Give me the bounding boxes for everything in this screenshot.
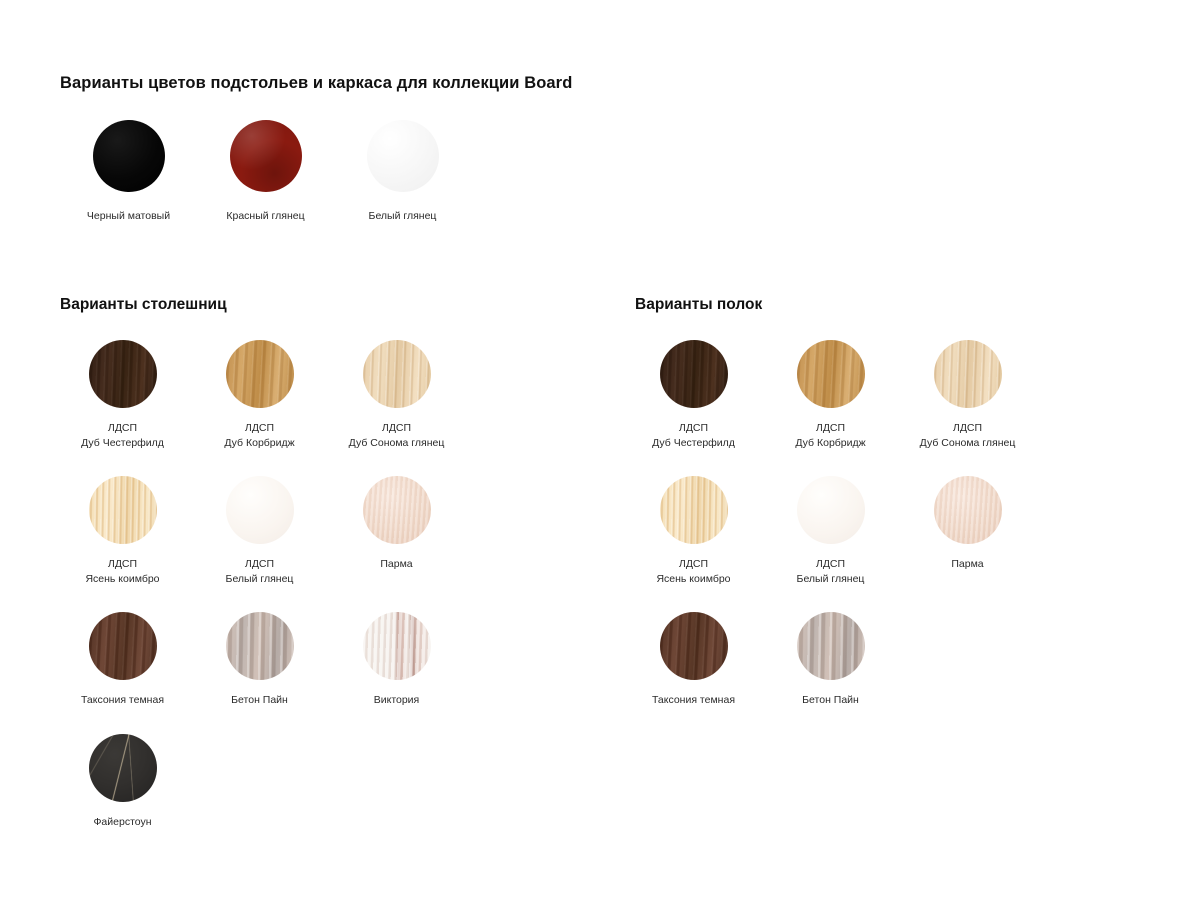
swatch-row: Черный матовыйКрасный глянецБелый глянец [60,120,580,224]
swatch-color-disc[interactable] [89,340,157,408]
swatch-color-disc[interactable] [797,476,865,544]
swatch-label: ЛДСПДуб Честерфилд [81,421,164,450]
swatch-label: Парма [380,557,412,572]
shelf-swatch-grid: ЛДСПДуб ЧестерфилдЛДСПДуб КорбриджЛДСПДу… [625,340,1185,734]
swatch-color-disc[interactable] [226,476,294,544]
swatch-label-line1: ЛДСП [679,422,708,434]
swatch-label: Бетон Пайн [802,693,859,708]
swatch-label: ЛДСПДуб Честерфилд [652,421,735,450]
swatch-color-disc[interactable] [226,612,294,680]
swatch-color-disc[interactable] [89,476,157,544]
swatch-label-line1: Парма [951,558,983,570]
swatch-cell[interactable]: Парма [899,476,1036,572]
swatch-label: ЛДСПБелый глянец [797,557,865,586]
color-options-page: Варианты цветов подстольев и каркаса для… [0,0,1200,900]
section-title-tabletops: Варианты столешниц [60,296,227,314]
swatch-row: ЛДСПДуб ЧестерфилдЛДСПДуб КорбриджЛДСПДу… [54,340,614,450]
swatch-label-line2: Белый глянец [797,572,865,587]
swatch-cell[interactable]: Виктория [328,612,465,708]
swatch-label-line2: Дуб Честерфилд [81,436,164,451]
swatch-label-line1: Красный глянец [226,210,304,222]
swatch-label-line1: Таксония темная [81,694,164,706]
swatch-cell[interactable]: ЛДСПБелый глянец [762,476,899,586]
swatch-cell[interactable]: Парма [328,476,465,572]
swatch-color-disc[interactable] [93,120,165,192]
swatch-label-line1: Черный матовый [87,210,170,222]
swatch-label-line1: Бетон Пайн [802,694,859,706]
swatch-label: Бетон Пайн [231,693,288,708]
swatch-label-line1: ЛДСП [816,558,845,570]
swatch-color-disc[interactable] [363,340,431,408]
swatch-color-disc[interactable] [89,612,157,680]
swatch-label-line2: Ясень коимбро [656,572,730,587]
swatch-label-line1: ЛДСП [108,558,137,570]
swatch-cell[interactable]: Бетон Пайн [191,612,328,708]
swatch-color-disc[interactable] [660,612,728,680]
swatch-cell[interactable]: ЛДСПЯсень коимбро [54,476,191,586]
swatch-label-line1: Белый глянец [369,210,437,222]
swatch-label-line1: ЛДСП [679,558,708,570]
swatch-row: ЛДСПЯсень коимброЛДСПБелый глянецПарма [625,476,1185,586]
swatch-label-line2: Дуб Сонома глянец [349,436,445,451]
swatch-cell[interactable]: Таксония темная [54,612,191,708]
swatch-label-line1: ЛДСП [953,422,982,434]
swatch-label-line1: ЛДСП [108,422,137,434]
swatch-color-disc[interactable] [660,340,728,408]
swatch-label-line1: ЛДСП [245,422,274,434]
swatch-color-disc[interactable] [226,340,294,408]
swatch-cell[interactable]: ЛДСПДуб Корбридж [191,340,328,450]
swatch-color-disc[interactable] [934,476,1002,544]
swatch-cell[interactable]: Белый глянец [334,120,471,224]
swatch-label: ЛДСПЯсень коимбро [656,557,730,586]
swatch-cell[interactable]: Файерстоун [54,734,191,830]
swatch-label: ЛДСПДуб Сонома глянец [920,421,1016,450]
swatch-label: Таксония темная [81,693,164,708]
swatch-label: Красный глянец [226,209,304,224]
swatch-label: Черный матовый [87,209,170,224]
swatch-label: ЛДСПБелый глянец [226,557,294,586]
swatch-cell[interactable]: ЛДСПДуб Сонома глянец [899,340,1036,450]
swatch-label-line1: Файерстоун [93,816,151,828]
swatch-label: Парма [951,557,983,572]
swatch-label: ЛДСПЯсень коимбро [85,557,159,586]
swatch-label: ЛДСПДуб Корбридж [795,421,865,450]
swatch-label-line2: Дуб Корбридж [795,436,865,451]
swatch-cell[interactable]: Бетон Пайн [762,612,899,708]
swatch-cell[interactable]: ЛДСПДуб Сонома глянец [328,340,465,450]
swatch-label: ЛДСПДуб Сонома глянец [349,421,445,450]
swatch-label-line1: ЛДСП [816,422,845,434]
tabletop-swatch-grid: ЛДСПДуб ЧестерфилдЛДСПДуб КорбриджЛДСПДу… [54,340,614,855]
swatch-color-disc[interactable] [230,120,302,192]
swatch-color-disc[interactable] [797,612,865,680]
frame-finish-swatch-grid: Черный матовыйКрасный глянецБелый глянец [60,120,580,224]
swatch-label-line1: ЛДСП [382,422,411,434]
swatch-cell[interactable]: ЛДСПБелый глянец [191,476,328,586]
swatch-row: Таксония темнаяБетон Пайн [625,612,1185,708]
swatch-label: ЛДСПДуб Корбридж [224,421,294,450]
section-title-shelves: Варианты полок [635,296,762,314]
swatch-color-disc[interactable] [367,120,439,192]
swatch-cell[interactable]: ЛДСПДуб Корбридж [762,340,899,450]
swatch-color-disc[interactable] [934,340,1002,408]
swatch-row: ЛДСПЯсень коимброЛДСПБелый глянецПарма [54,476,614,586]
swatch-row: Таксония темнаяБетон ПайнВиктория [54,612,614,708]
swatch-cell[interactable]: ЛДСПЯсень коимбро [625,476,762,586]
swatch-cell[interactable]: Красный глянец [197,120,334,224]
swatch-label: Виктория [374,693,420,708]
swatch-label-line1: Бетон Пайн [231,694,288,706]
swatch-label-line2: Дуб Сонома глянец [920,436,1016,451]
swatch-cell[interactable]: Таксония темная [625,612,762,708]
swatch-label-line2: Ясень коимбро [85,572,159,587]
swatch-color-disc[interactable] [797,340,865,408]
swatch-color-disc[interactable] [660,476,728,544]
swatch-label-line1: Таксония темная [652,694,735,706]
swatch-color-disc[interactable] [89,734,157,802]
swatch-label-line1: Виктория [374,694,420,706]
swatch-label-line1: ЛДСП [245,558,274,570]
swatch-cell[interactable]: Черный матовый [60,120,197,224]
swatch-label-line2: Белый глянец [226,572,294,587]
swatch-label-line2: Дуб Корбридж [224,436,294,451]
swatch-cell[interactable]: ЛДСПДуб Честерфилд [625,340,762,450]
swatch-label: Файерстоун [93,815,151,830]
swatch-cell[interactable]: ЛДСПДуб Честерфилд [54,340,191,450]
swatch-row: Файерстоун [54,734,614,830]
page-title: Варианты цветов подстольев и каркаса для… [60,74,572,93]
swatch-color-disc[interactable] [363,612,431,680]
swatch-label-line2: Дуб Честерфилд [652,436,735,451]
swatch-label: Белый глянец [369,209,437,224]
swatch-label: Таксония темная [652,693,735,708]
swatch-color-disc[interactable] [363,476,431,544]
swatch-label-line1: Парма [380,558,412,570]
swatch-row: ЛДСПДуб ЧестерфилдЛДСПДуб КорбриджЛДСПДу… [625,340,1185,450]
